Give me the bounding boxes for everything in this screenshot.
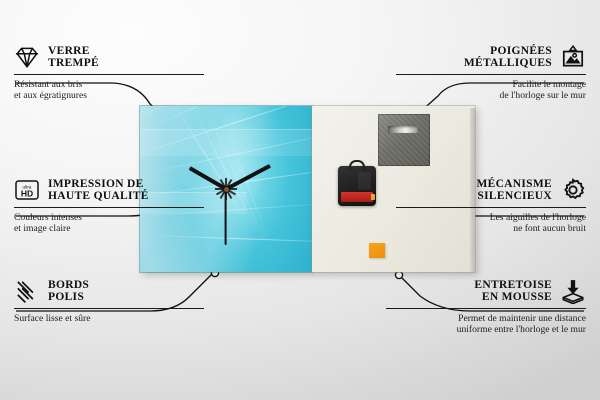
- feature-subtitle: Les aiguilles de l'horloge ne font aucun…: [396, 212, 586, 235]
- divider: [14, 308, 204, 309]
- svg-text:HD: HD: [21, 189, 33, 199]
- diamond-icon: [14, 44, 40, 70]
- feature-subtitle: Surface lisse et sûre: [14, 313, 204, 324]
- clock-center-pin: [224, 187, 229, 192]
- divider: [396, 74, 586, 75]
- hanger-slot: [388, 126, 418, 133]
- feature-title: BORDS POLIS: [48, 279, 89, 304]
- battery: [341, 192, 373, 202]
- divider: [386, 308, 586, 309]
- divider: [14, 74, 204, 75]
- feature-poignees-metalliques: POIGNÉES MÉTALLIQUES Facilite le montage…: [396, 44, 586, 102]
- feature-bords-polis: BORDS POLIS Surface lisse et sûre: [14, 278, 204, 324]
- hour-marker: [225, 127, 227, 189]
- picture-hanger-icon: [560, 44, 586, 70]
- feature-mecanisme-silencieux: MÉCANISME SILENCIEUX Les aiguilles de l'…: [396, 177, 586, 235]
- infographic-canvas: VERRE TREMPÉ Résistant aux bris et aux é…: [0, 0, 600, 400]
- polished-edges-icon: [14, 278, 40, 304]
- feature-entretoise-en-mousse: ENTRETOISE EN MOUSSE Permet de maintenir…: [386, 278, 586, 336]
- ultra-hd-icon: ultra HD: [14, 177, 40, 203]
- feature-impression-hd: ultra HD IMPRESSION DE HAUTE QUALITÉ Cou…: [14, 177, 204, 235]
- feature-title: VERRE TREMPÉ: [48, 45, 99, 70]
- feature-title: ENTRETOISE EN MOUSSE: [474, 279, 552, 304]
- gear-icon: [560, 177, 586, 203]
- hour-marker: [226, 188, 288, 190]
- foam-spacer-arrow-icon: [560, 278, 586, 304]
- metal-hanger-plate: [378, 114, 430, 166]
- mechanism-panel: [358, 172, 371, 190]
- feature-title: IMPRESSION DE HAUTE QUALITÉ: [48, 178, 149, 203]
- foam-spacer: [369, 243, 385, 258]
- feature-title: MÉCANISME SILENCIEUX: [476, 178, 552, 203]
- divider: [14, 207, 204, 208]
- feature-title: POIGNÉES MÉTALLIQUES: [464, 45, 552, 70]
- feature-subtitle: Facilite le montage de l'horloge sur le …: [396, 79, 586, 102]
- mechanism-hanging-loop: [349, 160, 365, 170]
- feature-subtitle: Couleurs intenses et image claire: [14, 212, 204, 235]
- divider: [396, 207, 586, 208]
- feature-verre-trempe: VERRE TREMPÉ Résistant aux bris et aux é…: [14, 44, 204, 102]
- quartz-mechanism: [338, 166, 376, 206]
- feature-subtitle: Résistant aux bris et aux égratignures: [14, 79, 204, 102]
- second-hand: [225, 189, 227, 245]
- feature-subtitle: Permet de maintenir une distance uniform…: [386, 313, 586, 336]
